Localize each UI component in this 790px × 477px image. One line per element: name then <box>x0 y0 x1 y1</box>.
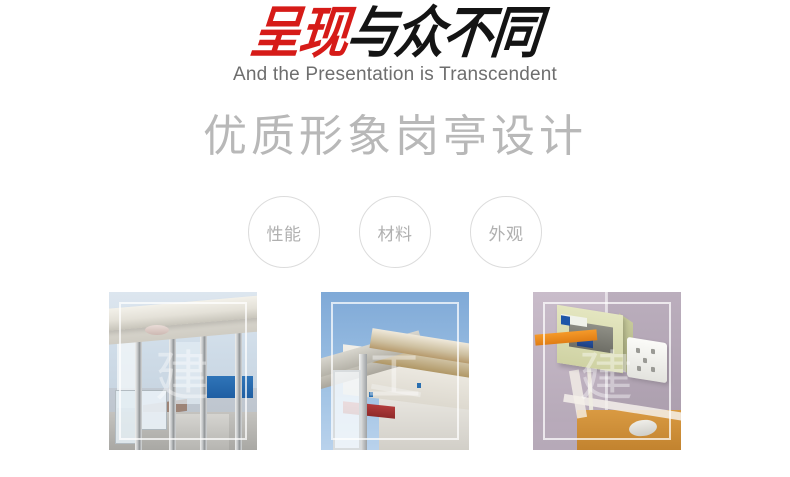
feature-circle-group: 性能 材料 外观 <box>0 196 790 268</box>
product-photo-row: 建 工 <box>0 292 790 450</box>
calligraphy-black-text: 与众不同 <box>344 5 542 61</box>
product-photo-guard-booth: 建 <box>109 292 257 450</box>
photo-artwork <box>533 292 681 450</box>
feature-circle-material: 材料 <box>359 196 431 268</box>
product-photo-roof-corner: 工 <box>321 292 469 450</box>
feature-circle-appearance: 外观 <box>470 196 542 268</box>
calligraphy-headline: 呈现与众不同 <box>0 8 790 58</box>
english-subtitle: And the Presentation is Transcendent <box>0 64 790 86</box>
photo-artwork <box>109 292 257 450</box>
feature-circle-label: 材料 <box>378 220 413 245</box>
feature-circle-performance: 性能 <box>248 196 320 268</box>
promo-page: 呈现与众不同 And the Presentation is Transcend… <box>0 0 790 477</box>
feature-circle-label: 性能 <box>267 220 302 245</box>
product-photo-electrical-box: 建 <box>533 292 681 450</box>
page-title: 优质形象岗亭设计 <box>0 113 790 161</box>
feature-circle-label: 外观 <box>489 220 524 245</box>
photo-artwork <box>321 292 469 450</box>
calligraphy-red-text: 呈现 <box>248 5 350 61</box>
